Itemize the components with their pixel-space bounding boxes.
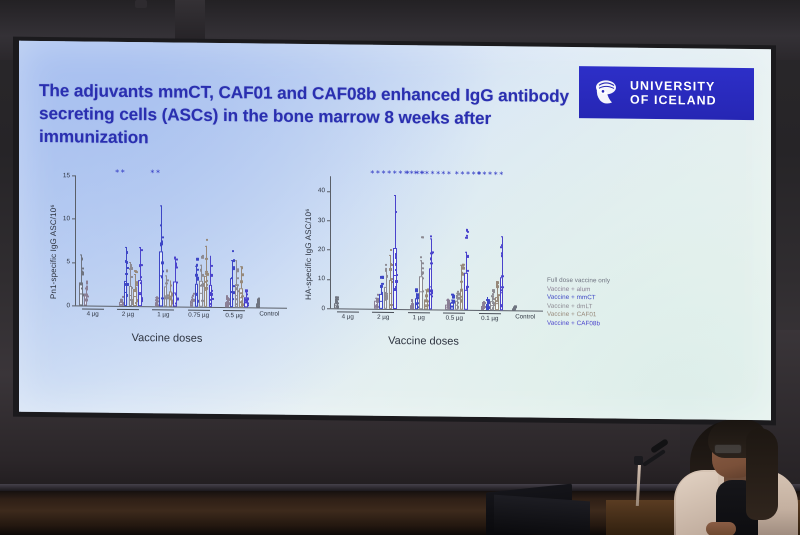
data-point	[140, 282, 142, 284]
data-point	[226, 297, 228, 299]
data-point	[81, 287, 83, 289]
data-point	[422, 277, 424, 279]
data-point	[467, 256, 469, 258]
error-whisker	[395, 195, 396, 248]
data-point	[82, 272, 84, 274]
viking-head-icon	[593, 78, 621, 106]
ceiling-fixture	[135, 0, 147, 8]
data-point	[501, 254, 503, 256]
data-point	[206, 239, 208, 241]
data-point	[210, 274, 212, 276]
data-point	[82, 267, 84, 269]
whisker-cap	[389, 255, 391, 256]
x-group-label: 1 µg	[408, 312, 430, 321]
x-group-label: 0.5 µg	[223, 310, 245, 319]
median-line	[235, 295, 238, 296]
median-line	[464, 290, 468, 291]
data-point	[211, 265, 213, 267]
data-point	[176, 258, 178, 260]
ceiling-speaker	[175, 0, 205, 44]
x-group-label: 0.75 µg	[188, 310, 210, 319]
pn1-chart-xlabel: Vaccine doses	[61, 331, 273, 345]
data-point	[390, 267, 392, 269]
data-point	[240, 292, 242, 294]
data-point	[501, 275, 503, 277]
data-point	[196, 264, 198, 266]
data-point	[492, 293, 494, 295]
data-point	[86, 281, 88, 283]
data-point	[205, 273, 207, 275]
y-tick-label: 10	[308, 275, 325, 282]
data-point	[421, 272, 423, 274]
error-whisker	[201, 264, 202, 280]
data-point	[385, 295, 387, 297]
data-point	[460, 280, 462, 282]
data-point	[462, 267, 464, 269]
data-point	[155, 302, 157, 304]
presenter-hair-side	[746, 428, 778, 520]
y-tick-label: 0	[53, 302, 70, 309]
data-point	[201, 256, 203, 258]
presenter	[672, 414, 800, 535]
x-group-label: 2 µg	[372, 312, 394, 321]
ha-y-ticks: 010203040	[330, 176, 543, 178]
x-group-label: 2 µg	[117, 309, 139, 318]
data-point	[129, 268, 131, 270]
data-point	[241, 300, 243, 302]
data-point	[395, 280, 397, 282]
whisker-cap	[165, 275, 167, 276]
whisker-cap	[235, 260, 237, 261]
median-line	[429, 287, 433, 288]
data-point	[126, 267, 128, 269]
y-tick-mark	[72, 219, 75, 220]
whisker-cap	[139, 247, 141, 248]
median-line	[129, 295, 132, 296]
data-point	[246, 293, 248, 295]
significance-marker: ∗∗	[115, 168, 126, 175]
y-tick-label: 40	[308, 187, 325, 194]
data-point	[394, 288, 396, 290]
y-tick-mark	[327, 191, 330, 192]
pn1-chart-plot: 051015 ∗∗∗∗	[75, 175, 287, 307]
significance-marker: ∗∗∗∗∗	[476, 170, 504, 177]
whisker-cap	[210, 256, 212, 257]
data-point	[411, 299, 413, 301]
data-point	[85, 299, 87, 301]
data-point	[451, 305, 453, 307]
ha-significance-layer: ∗∗∗∗∗∗∗∗∗∗∗ ∗∗∗∗∗∗∗ ∗∗∗∗∗∗∗∗∗∗	[330, 176, 543, 178]
data-point	[139, 264, 141, 266]
data-point	[161, 241, 163, 243]
whisker-cap	[487, 297, 489, 298]
chart-bar	[419, 276, 423, 309]
x-group-label: 1 µg	[152, 309, 174, 318]
data-point	[131, 276, 133, 278]
x-group-label: 4 µg	[82, 308, 104, 317]
slide-title: The adjuvants mmCT, CAF01 and CAF08b enh…	[39, 79, 584, 154]
data-point	[422, 262, 424, 264]
data-point	[81, 258, 83, 260]
data-point	[386, 275, 388, 277]
data-point	[385, 264, 387, 266]
data-point	[196, 258, 198, 260]
data-point	[161, 276, 163, 278]
data-point	[126, 261, 128, 263]
data-point	[241, 266, 243, 268]
legend-item: Full dose vaccine only	[547, 277, 610, 286]
legend-item: Vaccine + mmCT	[547, 294, 610, 303]
data-point	[431, 292, 433, 294]
x-group-label: 4 µg	[337, 311, 359, 320]
data-point	[195, 274, 197, 276]
pn1-bars-layer	[75, 175, 287, 177]
data-point	[237, 269, 239, 271]
ha-bars-layer	[330, 176, 543, 178]
median-line	[460, 298, 464, 299]
data-point	[430, 262, 432, 264]
data-point	[166, 279, 168, 281]
laptop-base	[494, 495, 590, 535]
data-point	[461, 296, 463, 298]
data-point	[465, 236, 467, 238]
error-whisker	[241, 266, 242, 288]
logo-line-1: UNIVERSITY	[630, 79, 717, 94]
data-point	[492, 289, 494, 291]
data-point	[135, 302, 137, 304]
data-point	[461, 289, 463, 291]
data-point	[126, 251, 128, 253]
data-point	[241, 296, 243, 298]
data-point	[175, 302, 177, 304]
whisker-cap	[501, 237, 503, 238]
data-point	[162, 236, 164, 238]
data-point	[415, 288, 417, 290]
data-point	[395, 211, 397, 213]
data-point	[176, 281, 178, 283]
university-logo: UNIVERSITY OF ICELAND	[579, 66, 754, 120]
data-point	[390, 248, 392, 250]
whisker-cap	[394, 195, 396, 196]
x-group-label: 0.1 µg	[479, 313, 501, 322]
data-point	[462, 264, 464, 266]
data-point	[141, 249, 143, 251]
data-point	[176, 298, 178, 300]
data-point	[453, 296, 455, 298]
data-point	[425, 300, 427, 302]
whisker-cap	[170, 281, 172, 282]
data-point	[175, 266, 177, 268]
data-point	[191, 304, 193, 306]
data-point	[240, 281, 242, 283]
logo-line-2: OF ICELAND	[630, 93, 717, 108]
error-whisker	[236, 260, 237, 284]
data-point	[421, 236, 423, 238]
glasses-icon	[714, 444, 742, 454]
data-point	[431, 295, 433, 297]
data-point	[242, 274, 244, 276]
data-point	[381, 276, 383, 278]
significance-marker: ∗∗	[150, 168, 161, 175]
pn1-y-ticks: 051015	[75, 175, 287, 177]
y-tick-mark	[72, 175, 75, 176]
pn1-chart: Pn1-specific IgG ASC/10⁶ 051015 ∗∗∗∗ 4 µ…	[41, 171, 291, 389]
whisker-cap	[160, 205, 162, 206]
whisker-cap	[465, 252, 467, 253]
y-tick-mark	[327, 279, 330, 280]
data-point	[130, 265, 132, 267]
y-tick-label: 15	[53, 172, 70, 179]
data-point	[85, 287, 87, 289]
pn1-x-tick-labels: 4 µg2 µg1 µg0.75 µg0.5 µgControl	[41, 171, 291, 174]
ha-y-axis	[330, 176, 331, 308]
x-group-label: 0.5 µg	[443, 313, 465, 322]
data-point	[380, 285, 382, 287]
data-point	[175, 263, 177, 265]
y-tick-label: 5	[53, 258, 70, 265]
legend-item: Vaccine + CAF08b	[547, 320, 610, 329]
y-tick-mark	[327, 220, 330, 221]
chart-legend: Full dose vaccine onlyVaccine + alumVacc…	[547, 277, 610, 329]
data-point	[120, 300, 122, 302]
data-point	[205, 287, 207, 289]
whisker-cap	[200, 264, 202, 265]
data-point	[337, 302, 339, 304]
data-point	[337, 298, 339, 300]
whisker-cap	[205, 245, 207, 246]
data-point	[467, 231, 469, 233]
chart-bar	[464, 273, 468, 310]
data-point	[245, 290, 247, 292]
x-group-label: Control	[252, 310, 287, 317]
y-tick-mark	[72, 262, 75, 263]
pn1-significance-layer: ∗∗∗∗	[75, 175, 287, 177]
median-line	[199, 292, 202, 293]
data-point	[257, 303, 259, 305]
data-point	[513, 307, 515, 309]
ha-chart-xlabel: Vaccine doses	[317, 334, 530, 348]
projection-screen: The adjuvants mmCT, CAF01 and CAF08b enh…	[19, 41, 771, 421]
ha-chart: HA-specific IgG ASC/10⁶ 010203040 ∗∗∗∗∗∗…	[297, 168, 547, 393]
data-point	[161, 262, 163, 264]
whisker-cap	[80, 254, 82, 255]
whisker-cap	[125, 247, 127, 248]
median-line	[389, 293, 393, 294]
data-point	[134, 290, 136, 292]
y-tick-mark	[327, 250, 330, 251]
data-point	[236, 303, 238, 305]
data-point	[396, 274, 398, 276]
data-point	[135, 287, 137, 289]
data-point	[422, 290, 424, 292]
lecture-room-photo: The adjuvants mmCT, CAF01 and CAF08b enh…	[0, 0, 800, 535]
data-point	[336, 305, 338, 307]
y-tick-label: 10	[53, 215, 70, 222]
slide: The adjuvants mmCT, CAF01 and CAF08b enh…	[19, 41, 771, 421]
median-line	[204, 290, 207, 291]
median-line	[379, 301, 383, 302]
data-point	[200, 269, 202, 271]
data-point	[165, 282, 167, 284]
data-point	[237, 277, 239, 279]
data-point	[80, 283, 82, 285]
data-point	[232, 250, 234, 252]
x-group-label: Control	[508, 313, 544, 320]
whisker-cap	[134, 274, 136, 275]
data-point	[461, 300, 463, 302]
y-tick-mark	[72, 305, 75, 306]
data-point	[501, 244, 503, 246]
data-point	[430, 235, 432, 237]
data-point	[231, 277, 233, 279]
data-point	[385, 269, 387, 271]
presenter-hand	[706, 522, 736, 535]
data-point	[500, 246, 502, 248]
data-point	[395, 253, 397, 255]
median-line	[133, 296, 136, 297]
error-whisker	[210, 256, 211, 285]
y-tick-mark	[327, 308, 330, 309]
data-point	[395, 256, 397, 258]
data-point	[422, 267, 424, 269]
data-point	[175, 293, 177, 295]
data-point	[247, 298, 249, 300]
data-point	[376, 304, 378, 306]
pn1-y-axis	[75, 175, 76, 305]
university-logo-text: UNIVERSITY OF ICELAND	[630, 79, 717, 108]
data-point	[125, 273, 127, 275]
data-point	[235, 298, 237, 300]
data-point	[497, 298, 499, 300]
data-point	[420, 256, 422, 258]
data-point	[395, 263, 397, 265]
median-line	[124, 292, 127, 293]
median-line	[495, 303, 499, 304]
data-point	[155, 299, 157, 301]
data-point	[170, 284, 172, 286]
median-line	[500, 292, 504, 293]
ha-chart-plot: 010203040 ∗∗∗∗∗∗∗∗∗∗∗ ∗∗∗∗∗∗∗ ∗∗∗∗∗∗∗∗∗∗	[330, 176, 543, 310]
y-tick-label: 0	[308, 305, 325, 312]
data-point	[141, 298, 143, 300]
data-point	[210, 294, 212, 296]
y-tick-label: 20	[308, 246, 325, 253]
y-tick-label: 30	[308, 217, 325, 224]
significance-marker: ∗ ∗∗∗∗∗	[405, 169, 441, 176]
data-point	[430, 258, 432, 260]
data-point	[456, 296, 458, 298]
data-point	[166, 270, 168, 272]
data-point	[395, 269, 397, 271]
whisker-cap	[430, 239, 432, 240]
data-point	[466, 286, 468, 288]
data-point	[191, 302, 193, 304]
data-point	[257, 305, 259, 307]
data-point	[430, 252, 432, 254]
